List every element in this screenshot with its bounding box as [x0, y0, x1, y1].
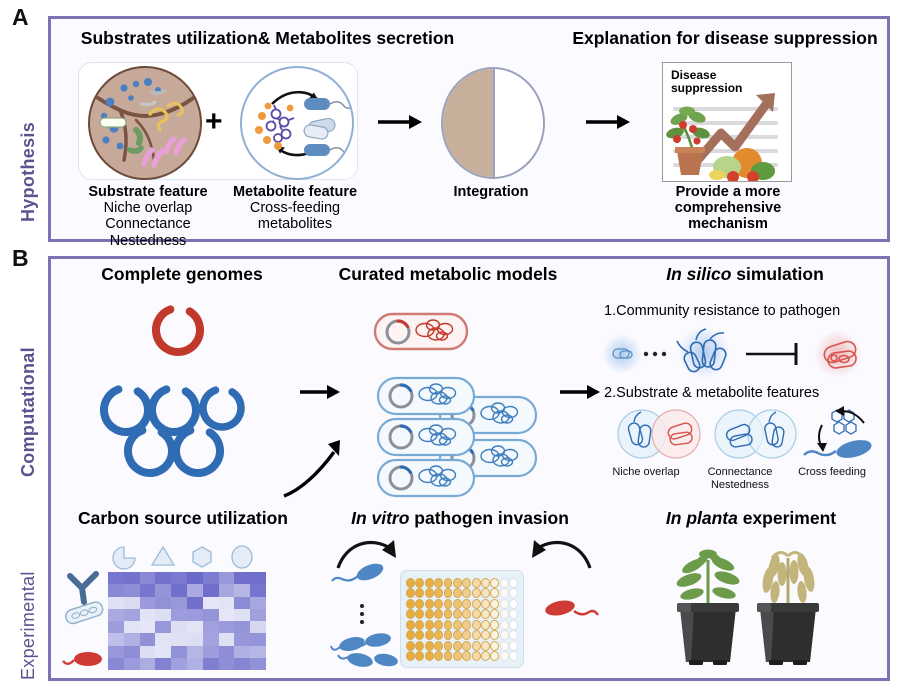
heatmap-cell [108, 658, 124, 670]
heatmap-cell [203, 584, 219, 596]
y-shaped-cell-icon [70, 574, 96, 602]
plate-well [434, 620, 443, 630]
plate-well [406, 630, 415, 640]
outcome-caption: Provide a more comprehensive mechanism [638, 184, 818, 233]
plate-well [500, 609, 509, 619]
heading-in-silico-simulation: In silico simulation [610, 264, 880, 285]
plate-well [462, 599, 471, 609]
plate-well [434, 609, 443, 619]
plate-well [453, 641, 462, 651]
heatmap-cell [219, 646, 235, 658]
plate-well [434, 588, 443, 598]
heatmap-cell [187, 572, 203, 584]
96-well-plate [400, 570, 524, 668]
plate-well [509, 620, 518, 630]
plate-well [415, 599, 424, 609]
heatmap-cell [171, 646, 187, 658]
plate-well [444, 588, 453, 598]
plate-well [425, 620, 434, 630]
heatmap-cell [219, 633, 235, 645]
plate-well [444, 651, 453, 661]
plate-well [425, 609, 434, 619]
metabolite-item-1: metabolites [258, 216, 332, 232]
plate-well [462, 620, 471, 630]
plate-well [453, 599, 462, 609]
heatmap-cell [155, 621, 171, 633]
plate-well [425, 630, 434, 640]
plate-well [406, 641, 415, 651]
plate-well [425, 578, 434, 588]
plate-well [462, 588, 471, 598]
sim-item-2-label: 2.Substrate & metabolite features [604, 385, 819, 401]
heatmap-cell [219, 572, 235, 584]
plate-well [462, 651, 471, 661]
heatmap-cell [234, 584, 250, 596]
heatmap-cell [140, 621, 156, 633]
plate-well [453, 609, 462, 619]
heatmap-cell [155, 646, 171, 658]
carbon-source-row-icons [62, 570, 110, 670]
substrate-feature-caption: Substrate feature Niche overlap Connecta… [78, 184, 218, 249]
heatmap-cell [124, 621, 140, 633]
heatmap-cell [171, 609, 187, 621]
plate-well [444, 641, 453, 651]
in-silico-rest: simulation [731, 264, 823, 284]
heatmap-cell [124, 572, 140, 584]
plate-well [490, 641, 499, 651]
wilted-pot [757, 603, 819, 665]
heatmap-cell [203, 621, 219, 633]
plate-well [434, 630, 443, 640]
triangle-icon [152, 547, 174, 565]
plate-well [509, 651, 518, 661]
substrate-item-1: Connectance [105, 216, 190, 232]
plus-operator: + [205, 107, 223, 137]
side-label-computational: Computational [18, 347, 39, 477]
heading-disease-explanation: Explanation for disease suppression [560, 28, 890, 49]
plate-well [481, 599, 490, 609]
heading-carbon-source-utilization: Carbon source utilization [58, 508, 308, 529]
heatmap-cell [250, 572, 266, 584]
heatmap-cell [140, 658, 156, 670]
soil-community-illustration [88, 66, 202, 180]
plate-well [453, 588, 462, 598]
heatmap-cell [155, 572, 171, 584]
plate-well [490, 651, 499, 661]
plate-well [406, 588, 415, 598]
plate-well [415, 578, 424, 588]
community-bacteria-group [330, 556, 402, 676]
heatmap-cell [171, 572, 187, 584]
wilted-plant [761, 552, 816, 608]
heatmap-cell [171, 621, 187, 633]
in-vitro-rest: pathogen invasion [409, 508, 568, 528]
plate-well [509, 588, 518, 598]
plate-well [481, 641, 490, 651]
arrow-to-integration-icon [376, 112, 424, 132]
plate-well [490, 620, 499, 630]
plate-well [434, 578, 443, 588]
in-planta-rest: experiment [738, 508, 836, 528]
plate-well [444, 578, 453, 588]
pathogen-bacteria-icon [540, 596, 600, 630]
carbon-source-shape-markers [110, 543, 270, 571]
plate-well [444, 630, 453, 640]
heatmap-cell [155, 597, 171, 609]
heatmap-cell [124, 597, 140, 609]
integration-caption: Integration [431, 184, 551, 200]
healthy-pot [677, 603, 739, 665]
carbon-source-heatmap [108, 572, 266, 670]
in-planta-plants-illustration [660, 540, 860, 670]
in-vitro-italic: In vitro [351, 508, 409, 528]
plate-well [481, 630, 490, 640]
sim-item-1-label: 1.Community resistance to pathogen [604, 303, 840, 319]
plate-well [481, 578, 490, 588]
heatmap-cell [140, 584, 156, 596]
heatmap-cell [171, 584, 187, 596]
heatmap-cell [219, 597, 235, 609]
plate-well [500, 599, 509, 609]
heatmap-cell [203, 609, 219, 621]
heatmap-cell [234, 658, 250, 670]
outcome-line-2: comprehensive mechanism [638, 200, 818, 232]
plate-well [490, 578, 499, 588]
ellipse-icon [232, 546, 252, 568]
integration-circle-illustration [441, 67, 545, 179]
outcome-line-1: Provide a more [638, 184, 818, 200]
plate-well [472, 630, 481, 640]
heatmap-cell [155, 609, 171, 621]
plate-well [453, 578, 462, 588]
heatmap-cell [140, 572, 156, 584]
plate-well [434, 641, 443, 651]
heatmap-cell [203, 633, 219, 645]
disease-suppression-card: Disease suppression [662, 62, 792, 182]
heatmap-cell [234, 609, 250, 621]
heatmap-cell [155, 633, 171, 645]
plate-well [490, 588, 499, 598]
plate-well [472, 651, 481, 661]
plate-well [444, 609, 453, 619]
plate-well [509, 578, 518, 588]
plate-well [406, 599, 415, 609]
plate-well [500, 620, 509, 630]
heatmap-cell [250, 633, 266, 645]
heatmap-cell [124, 658, 140, 670]
heatmap-cell [124, 646, 140, 658]
plate-well [500, 651, 509, 661]
plate-well [490, 630, 499, 640]
heatmap-cell [250, 584, 266, 596]
substrate-item-0: Niche overlap [104, 200, 193, 216]
plate-well [481, 651, 490, 661]
plate-well [453, 651, 462, 661]
in-silico-italic: In silico [666, 264, 731, 284]
plate-well [500, 578, 509, 588]
heatmap-cell [108, 609, 124, 621]
heatmap-cell [187, 658, 203, 670]
heatmap-cell [234, 621, 250, 633]
heatmap-cell [140, 646, 156, 658]
plate-well [415, 620, 424, 630]
plate-well [472, 641, 481, 651]
panel-letter-a: A [12, 6, 29, 29]
heatmap-cell [219, 658, 235, 670]
feature-label-cross-feeding: Cross feeding [786, 466, 878, 479]
heatmap-cell [108, 584, 124, 596]
heatmap-cell [250, 658, 266, 670]
heading-complete-genomes: Complete genomes [62, 264, 302, 285]
heatmap-cell [140, 633, 156, 645]
plate-well [406, 620, 415, 630]
plate-well [415, 588, 424, 598]
metabolite-feature-caption: Metabolite feature Cross-feeding metabol… [222, 184, 368, 233]
heatmap-cell [234, 597, 250, 609]
heatmap-cell [187, 609, 203, 621]
heatmap-cell [108, 572, 124, 584]
heatmap-cell [250, 609, 266, 621]
plate-well [500, 641, 509, 651]
plate-well [472, 620, 481, 630]
heatmap-cell [108, 597, 124, 609]
feature-label-niche-overlap: Niche overlap [600, 466, 692, 479]
heading-in-vitro-invasion: In vitro pathogen invasion [320, 508, 600, 529]
plate-well [406, 609, 415, 619]
heatmap-cell [187, 633, 203, 645]
substrate-feature-title: Substrate feature [78, 184, 218, 200]
heatmap-cell [250, 621, 266, 633]
plate-well [415, 630, 424, 640]
red-pathogen-cell-icon [63, 652, 102, 666]
plate-well [462, 578, 471, 588]
plate-well [434, 599, 443, 609]
plate-well [472, 609, 481, 619]
plate-well [472, 578, 481, 588]
genome-rings-svg [100, 290, 300, 475]
heatmap-cell [155, 584, 171, 596]
plate-well [481, 609, 490, 619]
in-planta-italic: In planta [666, 508, 738, 528]
community-resistance-illustration [600, 326, 890, 380]
heatmap-cell [187, 597, 203, 609]
arrow-to-outcome-icon [584, 112, 632, 132]
heatmap-cell [219, 621, 235, 633]
plate-well [472, 599, 481, 609]
plate-well [415, 641, 424, 651]
plate-well [462, 630, 471, 640]
heatmap-cell [250, 646, 266, 658]
plate-well [453, 620, 462, 630]
heatmap-cell [250, 597, 266, 609]
metabolite-feature-title: Metabolite feature [222, 184, 368, 200]
plate-well [481, 588, 490, 598]
heatmap-cell [171, 597, 187, 609]
plate-well [509, 599, 518, 609]
plate-well [425, 588, 434, 598]
heatmap-cell [140, 609, 156, 621]
plate-well [444, 599, 453, 609]
plate-well [509, 609, 518, 619]
plate-well [425, 651, 434, 661]
heatmap-cell [234, 572, 250, 584]
96-well-plate-grid [406, 578, 518, 661]
plate-well [406, 651, 415, 661]
plate-well [490, 609, 499, 619]
plate-well [434, 651, 443, 661]
heatmap-cell [234, 633, 250, 645]
plate-well [462, 641, 471, 651]
plate-well [425, 599, 434, 609]
side-label-experimental: Experimental [18, 571, 39, 680]
heatmap-cell [187, 621, 203, 633]
pac-man-icon [113, 547, 135, 569]
heatmap-cell [203, 646, 219, 658]
hexagon-icon [193, 547, 211, 567]
heatmap-cell [203, 658, 219, 670]
side-label-hypothesis: Hypothesis [18, 122, 39, 222]
heatmap-cell [171, 658, 187, 670]
feature-label-connectance-nestedness: Connectance Nestedness [694, 466, 786, 491]
plate-well [509, 630, 518, 640]
plate-well [406, 578, 415, 588]
integration-label: Integration [431, 184, 551, 200]
plate-well [472, 588, 481, 598]
metabolite-item-0: Cross-feeding [250, 200, 340, 216]
heatmap-cell [124, 609, 140, 621]
plate-well [453, 630, 462, 640]
heatmap-cell [108, 621, 124, 633]
heatmap-cell [234, 646, 250, 658]
heatmap-cell [108, 633, 124, 645]
substrate-metabolite-features-illustration [606, 405, 882, 463]
panel-letter-b: B [12, 247, 29, 270]
healthy-plant [675, 550, 741, 609]
plate-well [490, 599, 499, 609]
plate-well [415, 651, 424, 661]
heading-curated-models: Curated metabolic models [318, 264, 578, 285]
figure-root: A B Hypothesis Computational Experimenta… [0, 0, 904, 694]
metabolic-models-svg [330, 292, 570, 492]
heatmap-cell [171, 633, 187, 645]
plate-well [509, 641, 518, 651]
metabolite-exchange-illustration [240, 66, 354, 180]
heatmap-cell [124, 633, 140, 645]
heatmap-cell [155, 658, 171, 670]
arrow-inoculate-right-icon [518, 528, 598, 588]
heatmap-cell [203, 572, 219, 584]
heatmap-cell [219, 609, 235, 621]
heatmap-cell [219, 584, 235, 596]
heading-in-planta-experiment: In planta experiment [616, 508, 886, 529]
heatmap-cell [124, 584, 140, 596]
plate-well [481, 620, 490, 630]
heading-substrates-metabolites: Substrates utilization& Metabolites secr… [60, 28, 475, 49]
heatmap-cell [187, 646, 203, 658]
heatmap-cell [187, 584, 203, 596]
plate-well [462, 609, 471, 619]
plate-well [415, 609, 424, 619]
heatmap-cell [108, 646, 124, 658]
heatmap-cell [140, 597, 156, 609]
plate-well [425, 641, 434, 651]
heatmap-cell [203, 597, 219, 609]
substrate-item-2: Nestedness [110, 233, 187, 249]
arrow-models-to-simulation-icon [558, 382, 602, 402]
plate-well [500, 630, 509, 640]
plate-well [500, 588, 509, 598]
plate-well [444, 620, 453, 630]
